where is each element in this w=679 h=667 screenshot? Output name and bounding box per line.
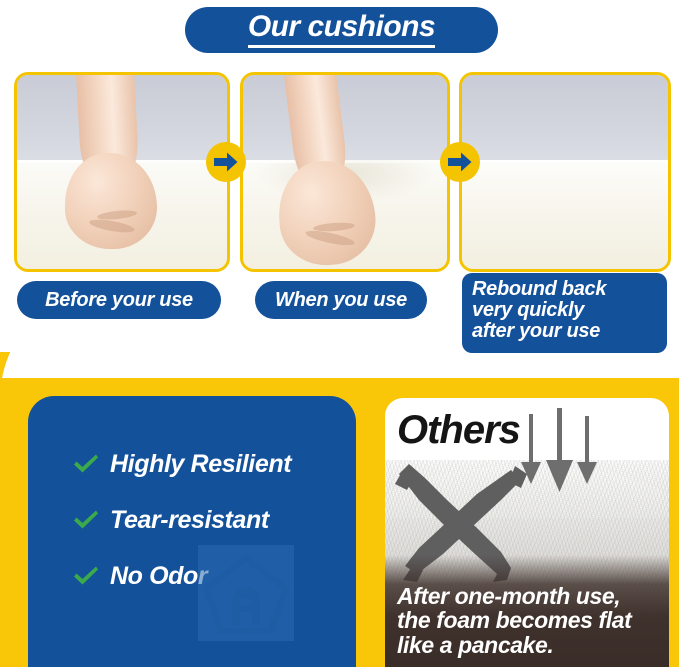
step-caption-rebound: Rebound back very quickly after your use bbox=[462, 273, 667, 353]
feature-label: No Odor bbox=[110, 562, 207, 591]
step-caption-rebound-line-3: after your use bbox=[472, 321, 667, 342]
feature-label: Highly Resilient bbox=[110, 450, 291, 479]
check-icon bbox=[72, 508, 102, 532]
page-title: Our cushions bbox=[248, 12, 435, 48]
feature-row: Tear-resistant bbox=[28, 492, 356, 548]
step-photo-rebounded bbox=[459, 72, 671, 272]
step-caption-when: When you use bbox=[255, 281, 427, 319]
feature-label: Tear-resistant bbox=[110, 506, 269, 535]
step-caption-before: Before your use bbox=[17, 281, 221, 319]
yellow-band-corner-curve bbox=[0, 352, 120, 398]
others-comparison-card: Others bbox=[385, 398, 669, 667]
arrow-right-badge-1 bbox=[206, 142, 246, 182]
photo-foam-slab bbox=[462, 160, 668, 269]
others-title: Others bbox=[397, 410, 520, 450]
check-icon bbox=[72, 564, 102, 588]
arrow-right-icon bbox=[214, 152, 238, 172]
photo-foam-edge bbox=[462, 160, 668, 163]
features-list: Highly Resilient Tear-resistant No Odor bbox=[28, 436, 356, 604]
others-caption-line-2: the foam becomes flat bbox=[397, 608, 661, 632]
others-caption-line-3: like a pancake. bbox=[397, 633, 661, 657]
features-panel: Highly Resilient Tear-resistant No Odor bbox=[28, 396, 356, 667]
step-photo-pressing bbox=[240, 72, 450, 272]
photo-background-wall bbox=[462, 75, 668, 162]
house-pentagon-logo-icon bbox=[198, 545, 294, 641]
arrow-right-badge-2 bbox=[440, 142, 480, 182]
infographic-canvas: Our cushions bbox=[0, 0, 679, 667]
arrow-right-icon bbox=[448, 152, 472, 172]
others-caption-text: After one-month use, the foam becomes fl… bbox=[397, 584, 661, 657]
step-photo-before bbox=[14, 72, 230, 272]
others-caption-overlay: After one-month use, the foam becomes fl… bbox=[385, 555, 669, 667]
step-caption-rebound-line-2: very quickly bbox=[472, 300, 667, 321]
check-icon bbox=[72, 452, 102, 476]
page-title-pill: Our cushions bbox=[185, 7, 498, 53]
feature-row: Highly Resilient bbox=[28, 436, 356, 492]
step-caption-rebound-line-1: Rebound back bbox=[472, 279, 667, 300]
others-caption-line-1: After one-month use, bbox=[397, 584, 661, 608]
feature-row: No Odor bbox=[28, 548, 356, 604]
